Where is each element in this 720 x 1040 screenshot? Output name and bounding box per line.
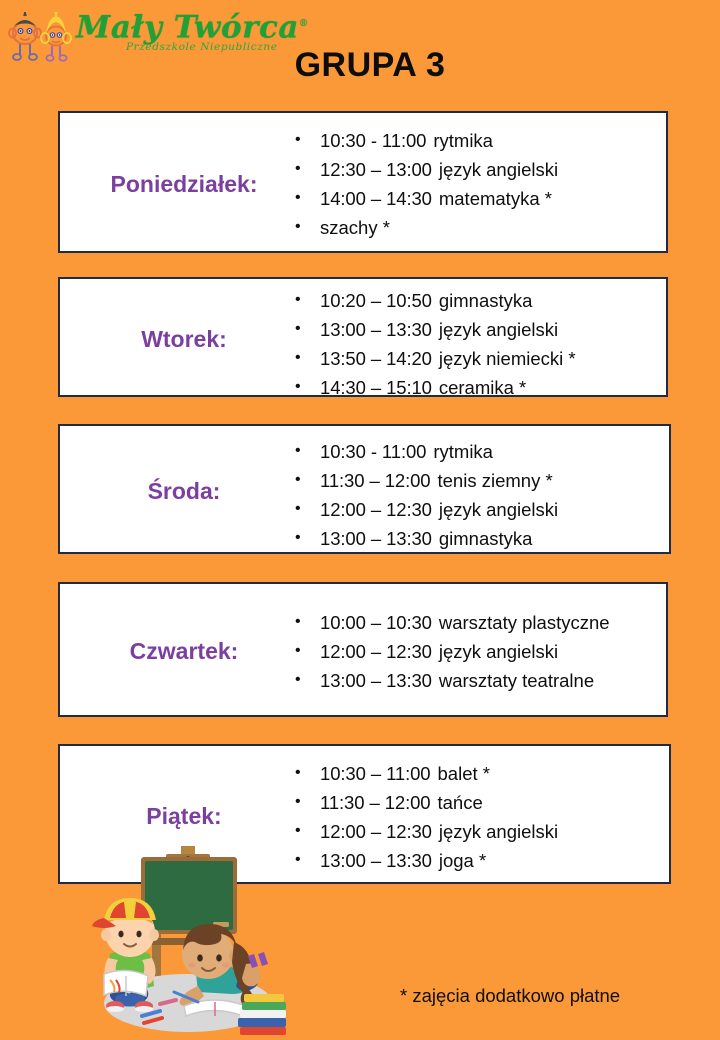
day-label-thursday: Czwartek: xyxy=(74,638,294,665)
lesson-item: 11:30 – 12:00tańce xyxy=(292,788,665,817)
lesson-item: 12:00 – 12:30język angielski xyxy=(292,495,665,524)
lesson-name: tenis ziemny * xyxy=(438,470,553,491)
day-label-wednesday: Środa: xyxy=(74,478,294,505)
lesson-item: szachy * xyxy=(292,213,662,242)
lesson-list-friday: 10:30 – 11:00balet * 11:30 – 12:00tańce … xyxy=(292,759,665,875)
lesson-list-tuesday: 10:20 – 10:50gimnastyka 13:00 – 13:30jęz… xyxy=(292,286,662,402)
day-card-monday: Poniedziałek: 10:30 - 11:00rytmika 12:30… xyxy=(58,111,668,253)
lesson-time: 14:30 – 15:10 xyxy=(320,377,432,398)
lesson-name: rytmika xyxy=(433,441,493,462)
lesson-item: 10:20 – 10:50gimnastyka xyxy=(292,286,662,315)
day-label-monday: Poniedziałek: xyxy=(74,171,294,198)
lesson-item: 12:00 – 12:30język angielski xyxy=(292,637,662,666)
lesson-name: rytmika xyxy=(433,130,493,151)
day-label-friday: Piątek: xyxy=(74,803,294,830)
lesson-name: ceramika * xyxy=(439,377,526,398)
lesson-time: 13:00 – 13:30 xyxy=(320,850,432,871)
lesson-name: joga * xyxy=(439,850,486,871)
page-title: GRUPA 3 xyxy=(0,46,720,85)
day-card-tuesday: Wtorek: 10:20 – 10:50gimnastyka 13:00 – … xyxy=(58,277,668,397)
lesson-item: 13:00 – 13:30joga * xyxy=(292,846,665,875)
lesson-name: język angielski xyxy=(439,821,558,842)
lesson-list-thursday: 10:00 – 10:30warsztaty plastyczne 12:00 … xyxy=(292,608,662,695)
lesson-name: warsztaty teatralne xyxy=(439,670,594,691)
lesson-name: język angielski xyxy=(439,319,558,340)
lesson-time: 10:30 – 11:00 xyxy=(320,763,431,784)
lesson-name: balet * xyxy=(438,763,490,784)
lesson-list-monday: 10:30 - 11:00rytmika 12:30 – 13:00język … xyxy=(292,126,662,242)
lesson-item: 10:30 - 11:00rytmika xyxy=(292,437,665,466)
lesson-name: język niemiecki * xyxy=(439,348,576,369)
lesson-name: matematyka * xyxy=(439,188,552,209)
lesson-item: 14:30 – 15:10ceramika * xyxy=(292,373,662,402)
lesson-name: warsztaty plastyczne xyxy=(439,612,610,633)
children-studying-illustration xyxy=(88,846,288,1040)
lesson-time: 14:00 – 14:30 xyxy=(320,188,432,209)
lesson-time: 12:00 – 12:30 xyxy=(320,821,432,842)
lesson-time: 12:30 – 13:00 xyxy=(320,159,432,180)
lesson-time: 11:30 – 12:00 xyxy=(320,470,431,491)
lesson-time: 13:00 – 13:30 xyxy=(320,670,432,691)
logo-name: Mały Twórca® xyxy=(76,6,266,45)
lesson-time: 10:30 - 11:00 xyxy=(320,130,426,151)
lesson-item: 11:30 – 12:00tenis ziemny * xyxy=(292,466,665,495)
lesson-item: 13:50 – 14:20język niemiecki * xyxy=(292,344,662,373)
lesson-time: 10:20 – 10:50 xyxy=(320,290,432,311)
lesson-time: 12:00 – 12:30 xyxy=(320,499,432,520)
lesson-item: 13:00 – 13:30język angielski xyxy=(292,315,662,344)
lesson-time: 13:00 – 13:30 xyxy=(320,528,432,549)
lesson-name: język angielski xyxy=(439,641,558,662)
lesson-name: szachy * xyxy=(320,217,390,238)
lesson-item: 13:00 – 13:30warsztaty teatralne xyxy=(292,666,662,695)
lesson-item: 10:00 – 10:30warsztaty plastyczne xyxy=(292,608,662,637)
lesson-time: 10:30 - 11:00 xyxy=(320,441,426,462)
lesson-item: 14:00 – 14:30matematyka * xyxy=(292,184,662,213)
lesson-item: 12:30 – 13:00język angielski xyxy=(292,155,662,184)
lesson-time: 10:00 – 10:30 xyxy=(320,612,432,633)
lesson-list-wednesday: 10:30 - 11:00rytmika 11:30 – 12:00tenis … xyxy=(292,437,665,553)
lesson-time: 13:00 – 13:30 xyxy=(320,319,432,340)
lesson-item: 10:30 – 11:00balet * xyxy=(292,759,665,788)
lesson-name: język angielski xyxy=(439,159,558,180)
footnote-paid-activities: * zajęcia dodatkowo płatne xyxy=(400,985,700,1007)
lesson-time: 13:50 – 14:20 xyxy=(320,348,432,369)
lesson-time: 12:00 – 12:30 xyxy=(320,641,432,662)
registered-mark: ® xyxy=(299,19,309,29)
lesson-item: 10:30 - 11:00rytmika xyxy=(292,126,662,155)
lesson-name: gimnastyka xyxy=(439,290,533,311)
lesson-item: 13:00 – 13:30gimnastyka xyxy=(292,524,665,553)
page-header: Mały Twórca® Przedszkole Niepubliczne GR… xyxy=(0,0,720,108)
lesson-name: tańce xyxy=(438,792,483,813)
lesson-item: 12:00 – 12:30język angielski xyxy=(292,817,665,846)
logo-name-text: Mały Twórca xyxy=(76,9,299,45)
day-card-thursday: Czwartek: 10:00 – 10:30warsztaty plastyc… xyxy=(58,582,668,717)
lesson-time: 11:30 – 12:00 xyxy=(320,792,431,813)
day-card-wednesday: Środa: 10:30 - 11:00rytmika 11:30 – 12:0… xyxy=(58,424,671,554)
day-label-tuesday: Wtorek: xyxy=(74,326,294,353)
lesson-name: gimnastyka xyxy=(439,528,533,549)
lesson-name: język angielski xyxy=(439,499,558,520)
